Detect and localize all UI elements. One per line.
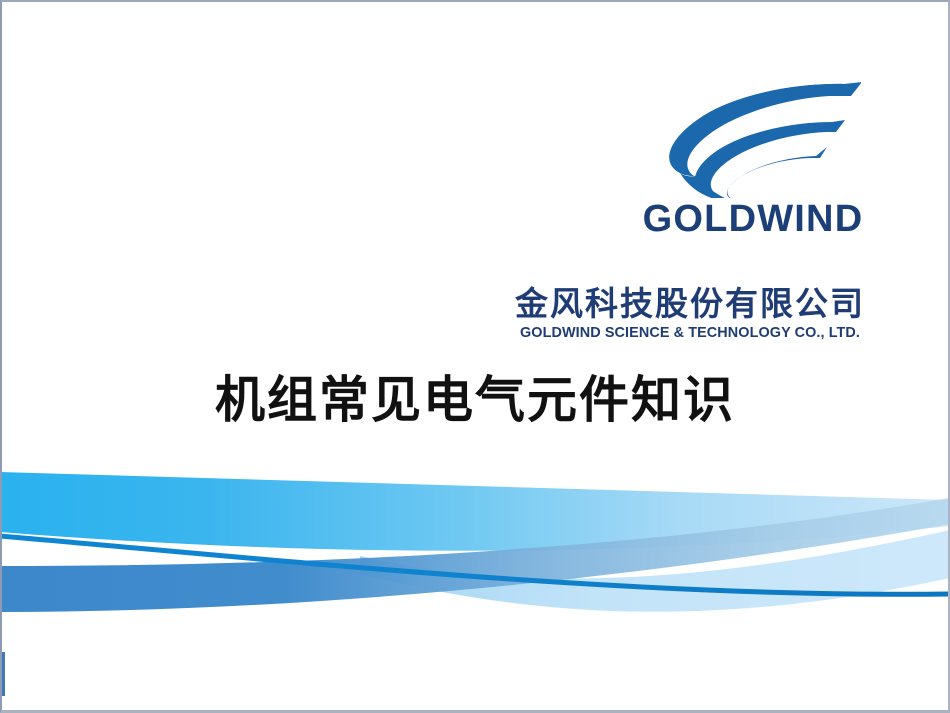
goldwind-logo: GOLDWIND (628, 78, 878, 248)
wave-accent-line (0, 536, 950, 594)
goldwind-wordmark: GOLDWIND (628, 200, 878, 238)
wave-band-steel (0, 498, 950, 612)
wave-band-cyan (0, 472, 950, 551)
left-edge-accent (0, 652, 5, 696)
goldwind-swoosh-logo-icon (646, 78, 861, 198)
wave-band-pale (360, 530, 950, 612)
company-name-chinese: 金风科技股份有限公司 (500, 286, 880, 322)
company-name-block: 金风科技股份有限公司 GOLDWIND SCIENCE & TECHNOLOGY… (500, 286, 880, 341)
slide-title: 机组常见电气元件知识 (0, 372, 950, 430)
company-name-english: GOLDWIND SCIENCE & TECHNOLOGY CO., LTD. (508, 324, 873, 341)
presentation-slide: GOLDWIND 金风科技股份有限公司 GOLDWIND SCIENCE & T… (0, 0, 950, 713)
